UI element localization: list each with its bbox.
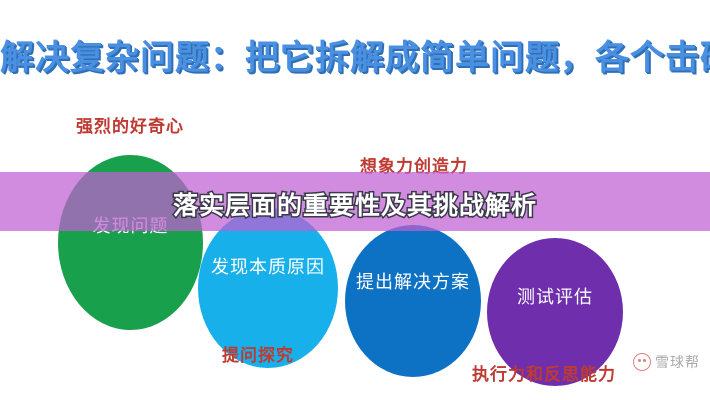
caption-inquiry: 提问探究: [222, 341, 294, 366]
process-step-label: 发现本质原因: [211, 253, 325, 279]
process-step-label: 测试评估: [517, 283, 593, 309]
snowball-logo-icon: [633, 353, 651, 371]
overlay-banner-title: 落实层面的重要性及其挑战解析: [0, 186, 710, 222]
caption-execution: 执行力和反思能力: [472, 360, 616, 385]
watermark: 雪球帮: [633, 352, 700, 372]
watermark-label: 雪球帮: [655, 352, 700, 372]
process-step-propose-solution: 提出解决方案: [345, 225, 481, 377]
process-step-label: 提出解决方案: [356, 268, 470, 294]
infographic-canvas: 解决复杂问题：把它拆解成简单问题，各个击破 强烈的好奇心 想象力创造力 发现问题…: [0, 0, 710, 400]
